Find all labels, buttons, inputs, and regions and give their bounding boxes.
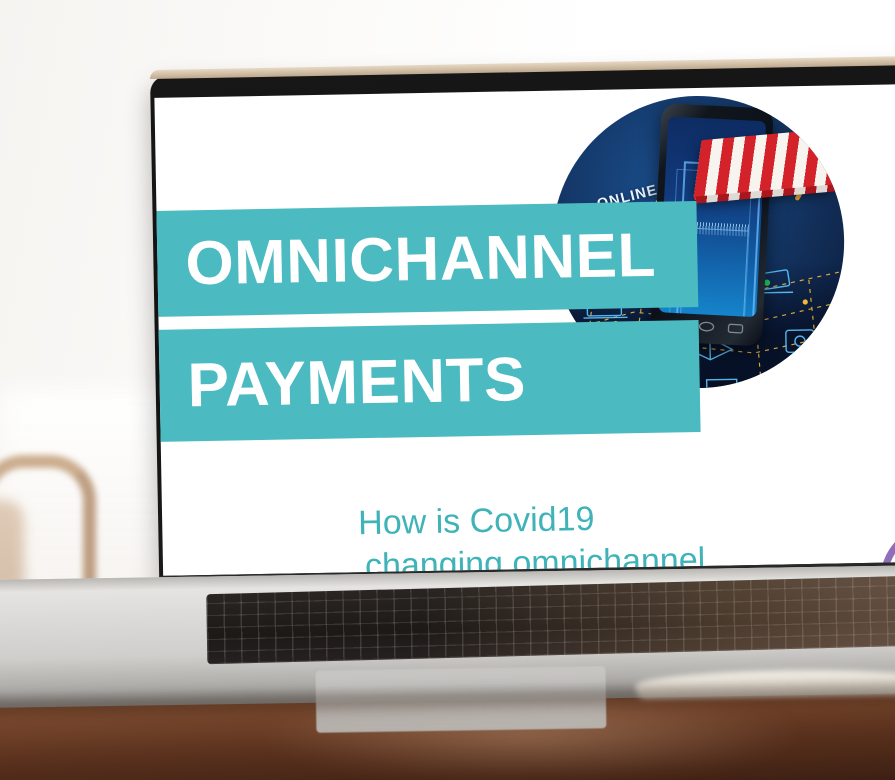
laptop-keyboard[interactable]	[206, 575, 895, 664]
screenshot-stage: ONLINE SHOPPING	[0, 0, 895, 780]
banner-payments-text: PAYMENTS	[187, 344, 526, 421]
laptop-screen[interactable]: ONLINE SHOPPING	[154, 84, 895, 576]
keyboard-glare	[206, 575, 895, 664]
laptop-base	[0, 565, 895, 708]
question-line-1: How is Covid19	[358, 500, 595, 542]
banner-omnichannel-text: OMNICHANNEL	[185, 219, 657, 299]
presentation-slide: ONLINE SHOPPING	[154, 84, 895, 576]
slide-question: How is Covid19 changing omnichannel stra…	[358, 495, 760, 576]
banner-payments: PAYMENTS	[154, 320, 700, 445]
laptop-lid: ONLINE SHOPPING	[150, 62, 895, 588]
banner-omnichannel: OMNICHANNEL	[154, 201, 698, 320]
